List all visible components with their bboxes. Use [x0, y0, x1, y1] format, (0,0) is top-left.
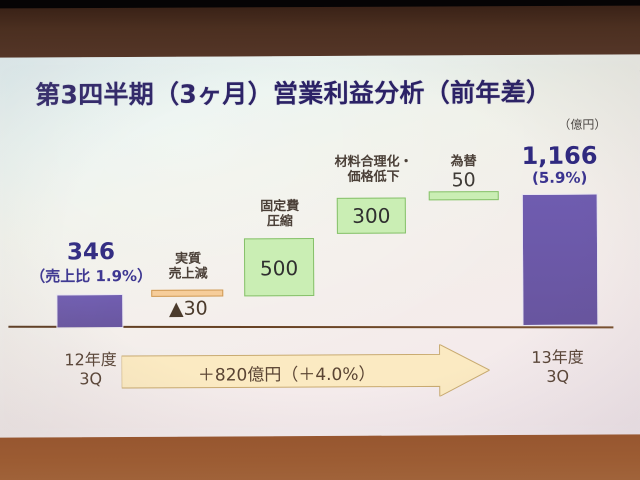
bar-zairyo-gourika: 300 [337, 198, 406, 234]
axis-label-fy13-line2: 3Q [500, 367, 616, 387]
caption-zairyo-line2: 価格低下 [320, 170, 428, 185]
value-label-kawase: 50 [431, 169, 497, 191]
bar-koteihi-asshuku: 500 [244, 238, 314, 296]
value-label-koteihi-asshuku: 500 [245, 256, 313, 280]
waterfall-chart: 346 （売上比 1.9%） 12年度 3Q 実質 売上減 ▲30 固定費 圧縮… [0, 54, 640, 437]
bar-fy12-3q-total [56, 294, 123, 328]
net-change-arrow: ＋820億円（＋4.0%） [122, 344, 490, 398]
bar-jisshitsu-uriagegen [151, 290, 223, 297]
projection-screen: 6 第3四半期（3ヶ月）営業利益分析（前年差） （億円） 346 （売上比 1.… [0, 54, 640, 437]
value-label-zairyo-gourika: 300 [338, 204, 405, 228]
bar-fy13-3q-total [522, 194, 599, 326]
caption-kawase: 為替 [431, 155, 497, 170]
value-label-fy12-3q: 346 [36, 239, 146, 266]
caption-kawase-line1: 為替 [431, 155, 497, 170]
net-change-arrow-label: ＋820億円（＋4.0%） [122, 359, 452, 386]
wall-above-screen [0, 6, 640, 61]
caption-zairyo-line1: 材料合理化・ [320, 155, 428, 170]
bar-kawase [429, 191, 499, 200]
value-label-fy13-3q: 1,166 [505, 141, 613, 170]
caption-koteihi-asshuku: 固定費 圧縮 [241, 200, 319, 230]
axis-label-fy13-3q: 13年度 3Q [500, 347, 616, 386]
caption-jisshitsu-uriagegen: 実質 売上減 [147, 252, 229, 282]
caption-zairyo-gourika: 材料合理化・ 価格低下 [320, 155, 428, 185]
caption-jisshitsu-line1: 実質 [147, 252, 229, 267]
caption-jisshitsu-line2: 売上減 [147, 267, 229, 282]
value-label-jisshitsu-uriagegen: ▲30 [149, 297, 227, 319]
photographed-slide-scene: 6 第3四半期（3ヶ月）営業利益分析（前年差） （億円） 346 （売上比 1.… [0, 0, 640, 480]
axis-label-fy13-line1: 13年度 [500, 347, 616, 367]
caption-koteihi-line1: 固定費 [241, 200, 319, 215]
caption-koteihi-line2: 圧縮 [241, 215, 319, 230]
sublabel-fy13-3q-ratio: (5.9%) [506, 168, 614, 187]
